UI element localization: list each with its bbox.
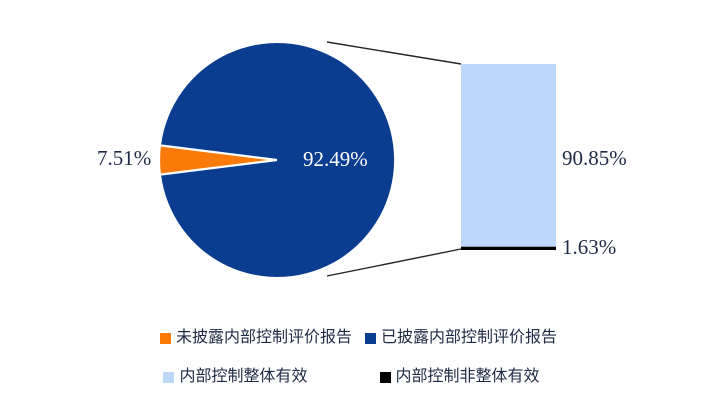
legend-swatch-icon (380, 372, 391, 383)
legend-swatch-icon (365, 333, 376, 344)
bar-segment-effective[interactable] (461, 64, 556, 247)
bar-group (461, 64, 556, 250)
data-label-disclosed: 92.49% (303, 149, 368, 170)
bar-segment-not-effective[interactable] (461, 247, 556, 250)
legend-swatch-icon (163, 372, 174, 383)
data-label-undisclosed: 7.51% (97, 148, 151, 169)
legend-label: 已披露内部控制评价报告 (381, 330, 557, 346)
legend-label: 内部控制整体有效 (179, 369, 307, 385)
legend-row: 内部控制整体有效 内部控制非整体有效 (0, 369, 717, 385)
data-label-not-effective: 1.63% (562, 237, 616, 258)
legend-item-not-effective[interactable]: 内部控制非整体有效 (380, 369, 540, 385)
legend-item-disclosed[interactable]: 已披露内部控制评价报告 (365, 330, 557, 346)
legend-swatch-icon (160, 333, 171, 344)
connector-line-top (327, 42, 461, 64)
legend-label: 未披露内部控制评价报告 (176, 330, 352, 346)
chart-plot-area: 7.51% 92.49% 90.85% 1.63% (0, 0, 717, 300)
legend-label: 内部控制非整体有效 (396, 369, 540, 385)
chart-legend: 未披露内部控制评价报告 已披露内部控制评价报告 内部控制整体有效 内部控制非整体… (0, 312, 717, 402)
data-label-effective: 90.85% (562, 148, 627, 169)
pie-of-bar-chart: 7.51% 92.49% 90.85% 1.63% 未披露内部控制评价报告 已披… (0, 0, 717, 402)
legend-item-undisclosed[interactable]: 未披露内部控制评价报告 (160, 330, 352, 346)
legend-row: 未披露内部控制评价报告 已披露内部控制评价报告 (0, 330, 717, 346)
legend-item-effective[interactable]: 内部控制整体有效 (163, 369, 307, 385)
